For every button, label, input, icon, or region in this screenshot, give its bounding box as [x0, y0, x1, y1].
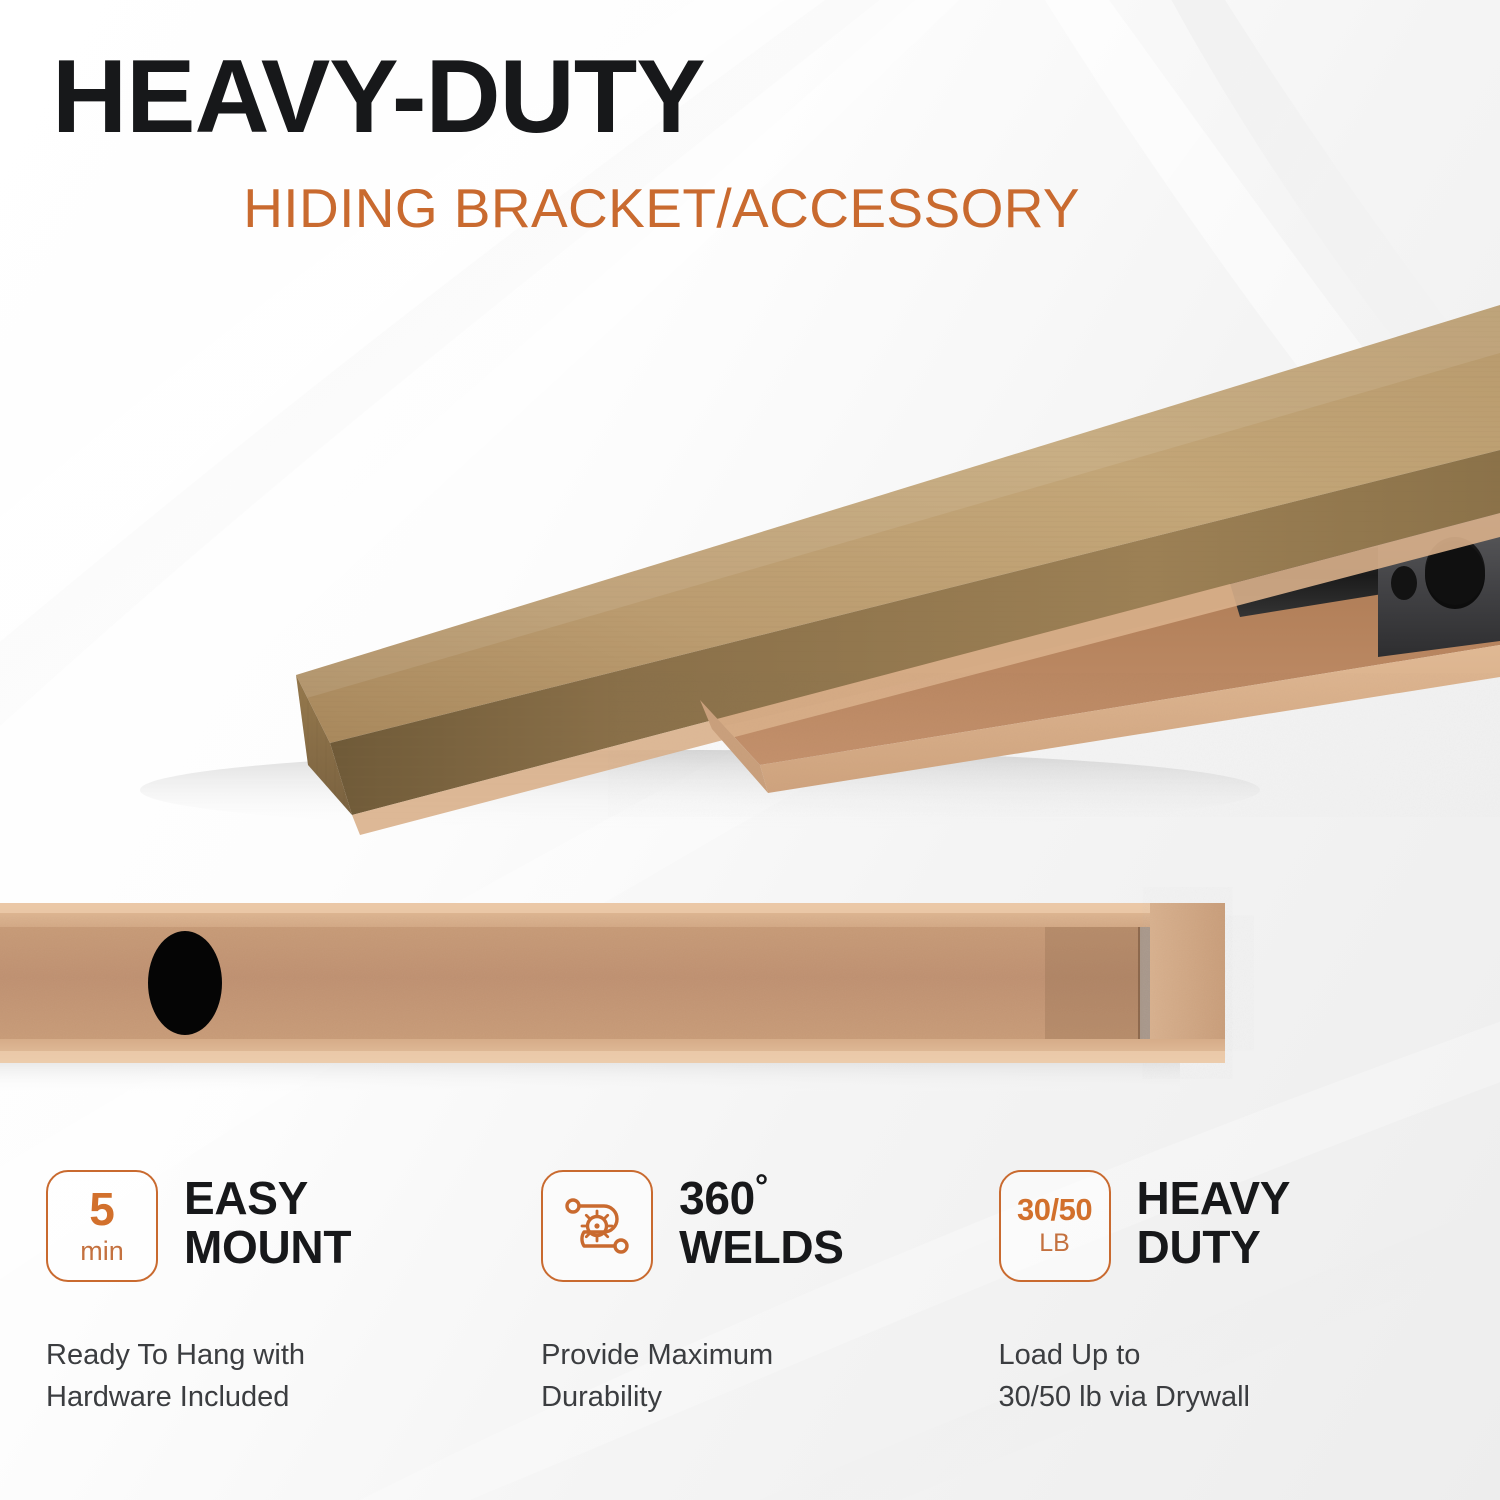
feature-title-line2: DUTY: [1137, 1223, 1291, 1272]
feature-360-welds: 360° WELDS Provide Maximum Durability: [541, 1170, 998, 1470]
feature-desc-line1: Provide Maximum: [541, 1334, 998, 1376]
feature-title-line2: WELDS: [679, 1223, 844, 1272]
badge-unit: LB: [1039, 1230, 1070, 1258]
subtitle-wrap: HIDING BRACKET/ACCESSORY: [52, 176, 1440, 240]
feature-heavy-duty: 30/50 LB HEAVY DUTY Load Up to 30/50 lb …: [999, 1170, 1454, 1470]
feature-header: 360° WELDS: [541, 1170, 998, 1282]
badge-number: 5: [89, 1186, 115, 1232]
feature-title: 360° WELDS: [679, 1170, 844, 1272]
feature-easy-mount: 5 min EASY MOUNT Ready To Hang with Hard…: [46, 1170, 541, 1470]
five-minute-badge: 5 min: [46, 1170, 158, 1282]
feature-description: Ready To Hang with Hardware Included: [46, 1334, 541, 1418]
feature-desc-line2: Durability: [541, 1376, 998, 1418]
feature-header: 30/50 LB HEAVY DUTY: [999, 1170, 1454, 1282]
feature-list: 5 min EASY MOUNT Ready To Hang with Hard…: [0, 1170, 1500, 1470]
channel-product-image: [0, 855, 1500, 1115]
page-subtitle: HIDING BRACKET/ACCESSORY: [243, 176, 1080, 240]
feature-header: 5 min EASY MOUNT: [46, 1170, 541, 1282]
feature-title-line1: EASY: [184, 1174, 351, 1223]
feature-desc-line1: Load Up to: [999, 1334, 1454, 1376]
feature-title-line2: MOUNT: [184, 1223, 351, 1272]
page-title: HEAVY-DUTY: [52, 44, 1440, 150]
feature-desc-line2: 30/50 lb via Drywall: [999, 1376, 1454, 1418]
weight-capacity-badge: 30/50 LB: [999, 1170, 1111, 1282]
weld-path-gear-icon: [541, 1170, 653, 1282]
hero-product-image: [0, 245, 1500, 865]
feature-desc-line2: Hardware Included: [46, 1376, 541, 1418]
feature-description: Load Up to 30/50 lb via Drywall: [999, 1334, 1454, 1418]
feature-desc-line1: Ready To Hang with: [46, 1334, 541, 1376]
degree-icon: °: [755, 1168, 768, 1205]
feature-title-line1: HEAVY: [1137, 1174, 1291, 1223]
feature-title-line1: 360°: [679, 1174, 844, 1223]
badge-number: 30/50: [1017, 1194, 1092, 1225]
feature-title: HEAVY DUTY: [1137, 1170, 1291, 1272]
feature-description: Provide Maximum Durability: [541, 1334, 998, 1418]
feature-title: EASY MOUNT: [184, 1170, 351, 1272]
badge-unit: min: [80, 1237, 124, 1267]
bracket-mounting-hole: [148, 931, 222, 1035]
headline-block: HEAVY-DUTY HIDING BRACKET/ACCESSORY: [0, 0, 1500, 240]
